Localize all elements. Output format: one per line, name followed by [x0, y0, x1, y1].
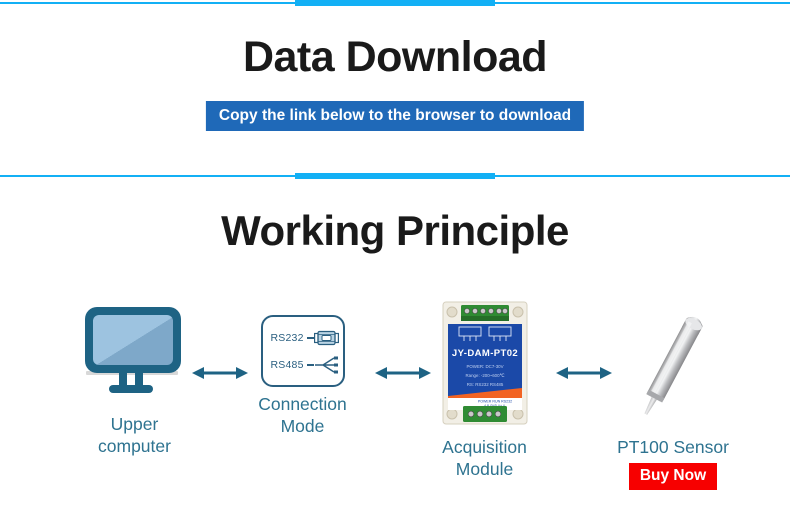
db9-connector-icon	[314, 330, 340, 346]
divider-middle	[0, 171, 790, 185]
svg-text:Range: -200~600℃: Range: -200~600℃	[465, 373, 504, 378]
connection-box-icon: RS232 RS485	[261, 315, 345, 387]
connection-row-rs485: RS485	[271, 356, 340, 374]
acquisition-module-photo-wrap: JY-DAM-PT02 POWER: DC7-30V Range: -200~6…	[412, 295, 557, 430]
acquisition-module-photo: JY-DAM-PT02 POWER: DC7-30V Range: -200~6…	[437, 300, 533, 426]
svg-text:POWER RUN RS232: POWER RUN RS232	[477, 399, 511, 403]
diagram-node-acquisition-module: JY-DAM-PT02 POWER: DC7-30V Range: -200~6…	[412, 295, 557, 481]
connection-row-rs232: RS232	[271, 330, 340, 346]
diagram-node-label: Connection Mode	[230, 393, 375, 438]
svg-text:JY-DAM-PT02: JY-DAM-PT02	[451, 348, 517, 359]
copy-link-banner: Copy the link below to the browser to do…	[206, 101, 584, 131]
buy-now-button[interactable]: Buy Now	[629, 463, 717, 489]
monitor-icon-wrap	[62, 295, 207, 407]
diagram-node-label: Upper computer	[62, 413, 207, 458]
working-principle-diagram: Upper computer RS232	[0, 295, 790, 531]
pt100-probe-photo-wrap	[598, 295, 748, 430]
diagram-node-label: PT100 Sensor	[598, 436, 748, 458]
page-title-data-download: Data Download	[0, 33, 790, 82]
divider-center-accent	[295, 173, 495, 179]
diagram-node-upper-computer: Upper computer	[62, 295, 207, 458]
pt100-probe-photo	[618, 299, 728, 427]
svg-text:RS: RS232 RS485: RS: RS232 RS485	[466, 382, 503, 387]
diagram-node-connection-mode: RS232 RS485	[230, 295, 375, 438]
svg-text:POWER: DC7-30V: POWER: DC7-30V	[466, 364, 503, 369]
divider-center-accent	[295, 0, 495, 6]
rs232-label: RS232	[271, 332, 304, 344]
divider-top	[0, 0, 790, 14]
rs485-lead-line	[307, 364, 314, 365]
rs485-label: RS485	[271, 359, 304, 371]
monitor-icon	[83, 305, 187, 397]
wire-fan-icon	[314, 356, 340, 374]
rs232-lead-line	[307, 337, 314, 338]
diagram-node-label: Acquisition Module	[412, 436, 557, 481]
page-title-working-principle: Working Principle	[0, 207, 790, 255]
diagram-node-pt100-sensor: PT100 Sensor Buy Now	[598, 295, 748, 490]
